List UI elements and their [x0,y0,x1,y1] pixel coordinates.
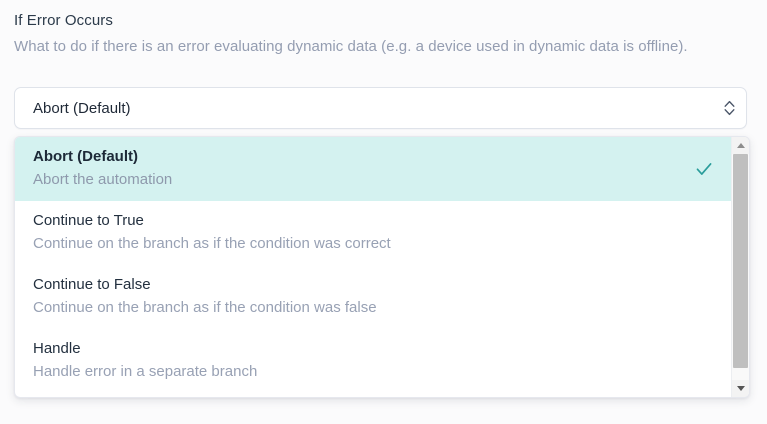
option-row-handle[interactable]: Handle Handle error in a separate branch [15,329,731,393]
option-subtitle: Handle error in a separate branch [33,361,713,383]
option-title: Handle [33,338,713,360]
scrollbar-thumb[interactable] [733,154,748,368]
if-error-occurs-select[interactable]: Abort (Default) [14,87,747,129]
option-list: Abort (Default) Abort the automation Con… [15,137,731,397]
option-title: Abort (Default) [33,146,713,168]
select-selected-value: Abort (Default) [15,100,712,117]
option-subtitle: Continue on the branch as if the conditi… [33,297,713,319]
scrollbar-track[interactable] [732,154,749,380]
option-title: Continue to False [33,274,713,296]
arrow-down-icon [737,386,745,391]
field-description: What to do if there is an error evaluati… [14,36,744,58]
option-row-continue-to-false[interactable]: Continue to False Continue on the branch… [15,265,731,329]
option-list-scrollbar[interactable] [731,137,749,397]
form-field-header: If Error Occurs What to do if there is a… [14,11,753,58]
scrollbar-down-button[interactable] [732,380,749,397]
chevron-up-down-icon[interactable] [712,98,746,118]
select-options-panel: Abort (Default) Abort the automation Con… [14,136,750,398]
field-label: If Error Occurs [14,11,753,31]
scrollbar-up-button[interactable] [732,137,749,154]
check-icon [694,159,714,179]
option-row-continue-to-true[interactable]: Continue to True Continue on the branch … [15,201,731,265]
option-subtitle: Continue on the branch as if the conditi… [33,233,713,255]
arrow-up-icon [737,143,745,148]
option-subtitle: Abort the automation [33,169,713,191]
option-title: Continue to True [33,210,713,232]
option-row-abort-default[interactable]: Abort (Default) Abort the automation [15,137,731,201]
